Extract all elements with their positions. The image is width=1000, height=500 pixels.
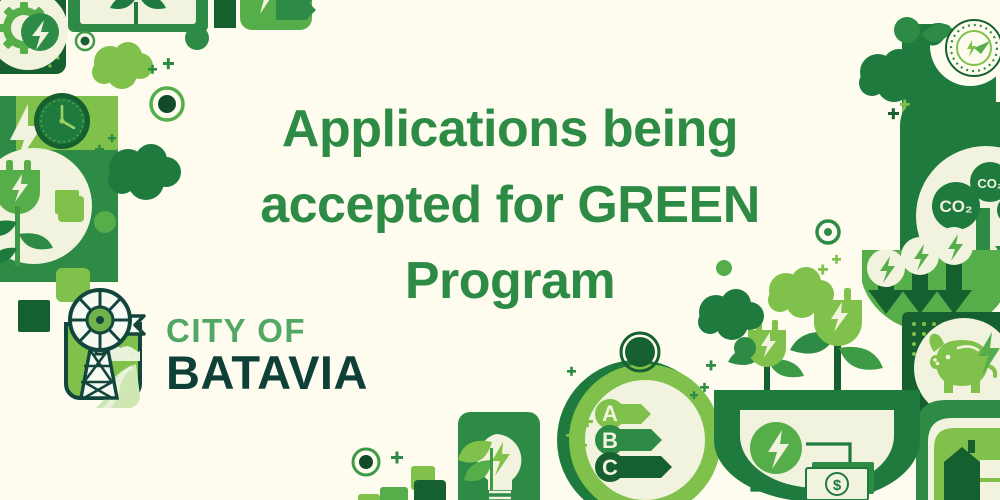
square-accent	[58, 196, 84, 222]
decorative-artwork: CO₂ CO₂ CO₂	[0, 0, 1000, 500]
gear-energy-icon	[0, 0, 68, 74]
windmill-badge-icon	[44, 286, 156, 408]
dot-accent	[894, 17, 920, 43]
svg-text:CO₂: CO₂	[977, 176, 1000, 191]
leaf-bulb-icon	[458, 412, 540, 500]
svg-text:$: $	[833, 477, 842, 494]
svg-text:CO₂: CO₂	[939, 197, 972, 216]
logo-city-text: CITY OF	[166, 314, 368, 347]
left-edge-blocks	[0, 420, 48, 500]
house-rating-icon	[916, 400, 1000, 500]
dot-accent	[185, 26, 209, 50]
green-program-banner: CO₂ CO₂ CO₂	[0, 0, 1000, 500]
svg-text:A: A	[602, 401, 618, 426]
city-of-batavia-logo[interactable]: CITY OF BATAVIA	[44, 286, 368, 408]
plus-accent	[824, 240, 833, 243]
ring-accent	[625, 337, 655, 367]
logo-wordmark: CITY OF BATAVIA	[166, 298, 368, 396]
logo-batavia-text: BATAVIA	[166, 349, 368, 396]
svg-text:B: B	[602, 428, 618, 453]
dot-accent	[94, 211, 116, 233]
svg-text:C: C	[602, 455, 618, 480]
dot-accent	[734, 337, 756, 359]
